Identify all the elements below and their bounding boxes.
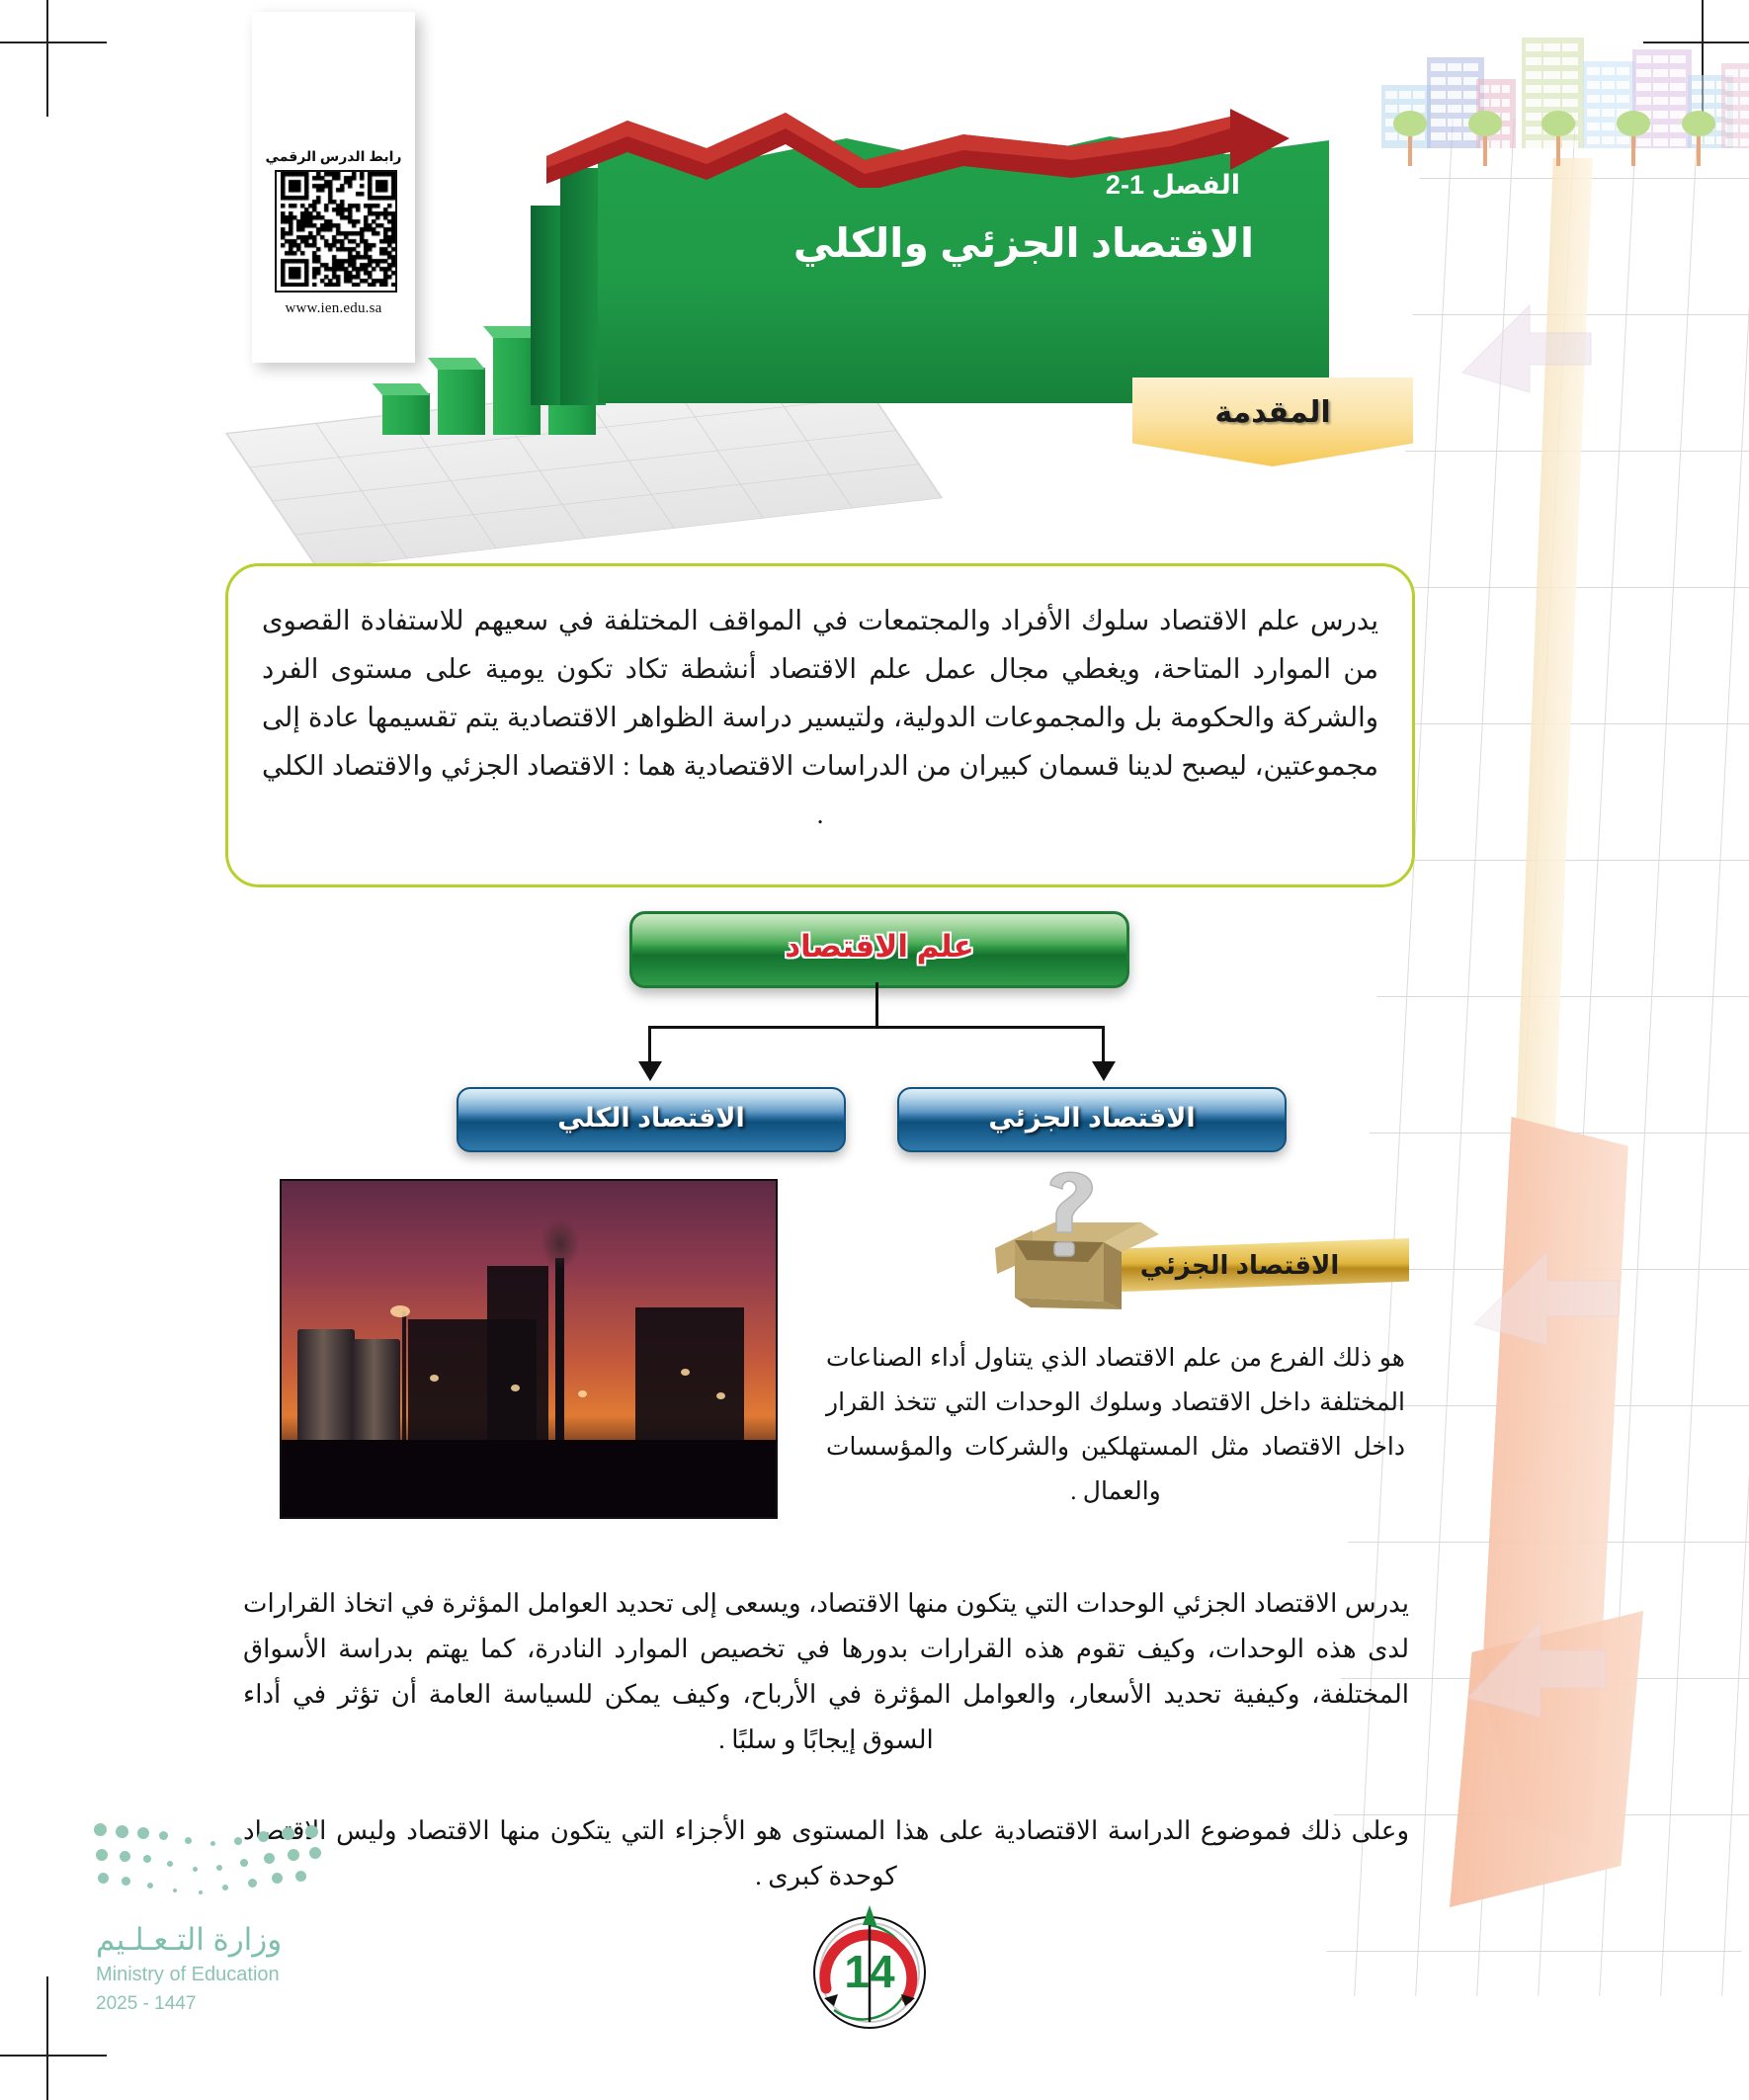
photo-street-lamp: [402, 1311, 406, 1440]
moe-logo-dot: [258, 1831, 269, 1842]
moe-logo-dot: [309, 1847, 321, 1859]
flowchart-node-macroeconomics-label: الاقتصاد الكلي: [458, 1089, 844, 1146]
photo-light-1: [430, 1375, 439, 1382]
beige-ribbon-decoration: [1502, 158, 1592, 1482]
skyline-tree: [1393, 111, 1427, 166]
crop-mark-top-right-horizontal: [1643, 42, 1749, 43]
page-title: الاقتصاد الجزئي والكلي: [793, 219, 1254, 267]
peach-ribbon-decoration-lower: [1450, 1611, 1643, 1907]
flowchart-node-microeconomics[interactable]: الاقتصاد الجزئي: [897, 1087, 1287, 1152]
ghost-arrow-icon-lower: [1457, 1591, 1616, 1739]
moe-logo-dot: [272, 1873, 283, 1884]
moe-logo-dots: [94, 1823, 331, 1908]
moe-logo-years: 2025 - 1447: [96, 1993, 196, 2015]
flowchart-node-macroeconomics[interactable]: الاقتصاد الكلي: [457, 1087, 846, 1152]
photo-structure-2: [487, 1266, 548, 1440]
flowchart-arrowhead-left: [638, 1061, 662, 1081]
question-mark-box-icon: [993, 1171, 1161, 1319]
moe-logo-dot: [305, 1825, 318, 1838]
microeconomics-paragraph-2: يدرس الاقتصاد الجزئي الوحدات التي يتكون …: [243, 1581, 1409, 1763]
flowchart-connector-horizontal: [648, 1026, 1105, 1029]
introduction-text-box: يدرس علم الاقتصاد سلوك الأفراد والمجتمعا…: [225, 563, 1415, 887]
moe-logo-dot: [120, 1851, 130, 1862]
moe-logo-dot: [248, 1879, 257, 1888]
refinery-photograph: [280, 1179, 778, 1519]
moe-logo-dot: [282, 1827, 294, 1840]
chart-bar-1: [382, 393, 430, 435]
ghost-arrow-icon-upper: [1453, 282, 1601, 410]
introduction-paragraph: يدرس علم الاقتصاد سلوك الأفراد والمجتمعا…: [228, 566, 1412, 838]
chapter-number: الفصل 1-2: [1106, 170, 1240, 201]
skyline-tree: [1541, 111, 1575, 166]
moe-logo-dot: [295, 1871, 306, 1882]
page-number-badge: 14: [791, 1895, 949, 2054]
skyline-building: [1522, 38, 1584, 148]
skyline-building: [1427, 57, 1484, 148]
moe-logo-dot: [94, 1823, 107, 1836]
microeconomics-definition-paragraph: هو ذلك الفرع من علم الاقتصاد الذي يتناول…: [826, 1336, 1405, 1514]
skyline-building: [1476, 79, 1516, 148]
photo-structure-3: [635, 1307, 744, 1440]
green-panel-edge-back: [531, 206, 564, 405]
skyline-building: [1688, 75, 1733, 148]
photo-smoke: [541, 1218, 580, 1270]
ghost-arrow-icon-middle: [1462, 1225, 1630, 1364]
moe-logo-dot: [264, 1853, 275, 1864]
photo-storage-tank-2: [353, 1339, 400, 1440]
flowchart-root-label: علم الاقتصاد: [632, 914, 1126, 979]
flowchart-connector-branch-right: [1102, 1026, 1105, 1065]
skyline-building: [1721, 63, 1749, 148]
skyline-building: [1583, 61, 1635, 148]
flowchart-connector-branch-left: [648, 1026, 651, 1065]
flowchart-arrowhead-right: [1092, 1061, 1116, 1081]
photo-smokestack: [555, 1258, 564, 1440]
microeconomics-paragraph-3: وعلى ذلك فموضوع الدراسة الاقتصادية على ه…: [243, 1808, 1409, 1899]
photo-ground: [282, 1440, 776, 1517]
decorative-side-panel: [1324, 0, 1749, 2100]
moe-logo-dot: [222, 1885, 228, 1890]
skyline-tree: [1617, 111, 1650, 166]
moe-logo-dot: [216, 1865, 222, 1871]
photo-light-5: [716, 1392, 725, 1399]
ministry-of-education-logo: وزارة التـعـلـيم Ministry of Education 2…: [94, 1823, 351, 2036]
crop-mark-top-left-vertical: [46, 0, 48, 117]
skyline-building: [1381, 85, 1431, 148]
moe-logo-dot: [210, 1841, 215, 1846]
photo-light-2: [511, 1385, 520, 1391]
moe-logo-dot: [199, 1890, 203, 1894]
photo-light-3: [578, 1390, 587, 1397]
moe-logo-dot: [167, 1861, 173, 1867]
moe-logo-dot: [185, 1837, 192, 1844]
moe-logo-dot: [147, 1883, 153, 1889]
moe-logo-dot: [137, 1827, 149, 1839]
moe-logo-dot: [116, 1825, 128, 1838]
moe-logo-dot: [173, 1889, 177, 1892]
moe-logo-arabic: وزارة التـعـلـيم: [96, 1922, 282, 1958]
skyline-tree: [1468, 111, 1502, 166]
flowchart-connector-vertical: [875, 982, 878, 1028]
crop-mark-top-right-vertical: [1702, 0, 1704, 117]
moe-logo-english: Ministry of Education: [96, 1964, 280, 1986]
moe-logo-dot: [96, 1849, 108, 1861]
moe-logo-dot: [98, 1873, 109, 1884]
chart-bar-2: [438, 368, 485, 435]
moe-logo-dot: [288, 1849, 299, 1861]
flowchart-root-node[interactable]: علم الاقتصاد: [629, 911, 1129, 988]
crop-mark-top-left-horizontal: [0, 42, 107, 43]
skyline-building: [1632, 49, 1692, 148]
introduction-banner-label: المقدمة: [1132, 378, 1413, 430]
peach-ribbon-decoration: [1473, 1117, 1630, 1848]
crop-mark-bottom-left-horizontal: [0, 2055, 107, 2057]
moe-logo-dot: [143, 1855, 151, 1863]
skyline-tree: [1682, 111, 1715, 166]
flowchart-node-microeconomics-label: الاقتصاد الجزئي: [899, 1089, 1285, 1146]
chapter-header: الفصل 1-2 الاقتصاد الجزئي والكلي: [212, 109, 1339, 524]
page-number: 14: [791, 1945, 949, 1998]
city-skyline-illustration: [1374, 8, 1749, 186]
moe-logo-dot: [122, 1877, 130, 1886]
photo-light-4: [681, 1369, 690, 1376]
photo-lamp-glow: [390, 1305, 410, 1317]
moe-logo-dot: [159, 1831, 168, 1840]
moe-logo-dot: [193, 1867, 198, 1872]
moe-logo-dot: [234, 1837, 242, 1845]
moe-logo-dot: [240, 1859, 248, 1867]
photo-storage-tank-1: [297, 1329, 355, 1440]
crop-mark-bottom-left-vertical: [46, 1976, 48, 2100]
